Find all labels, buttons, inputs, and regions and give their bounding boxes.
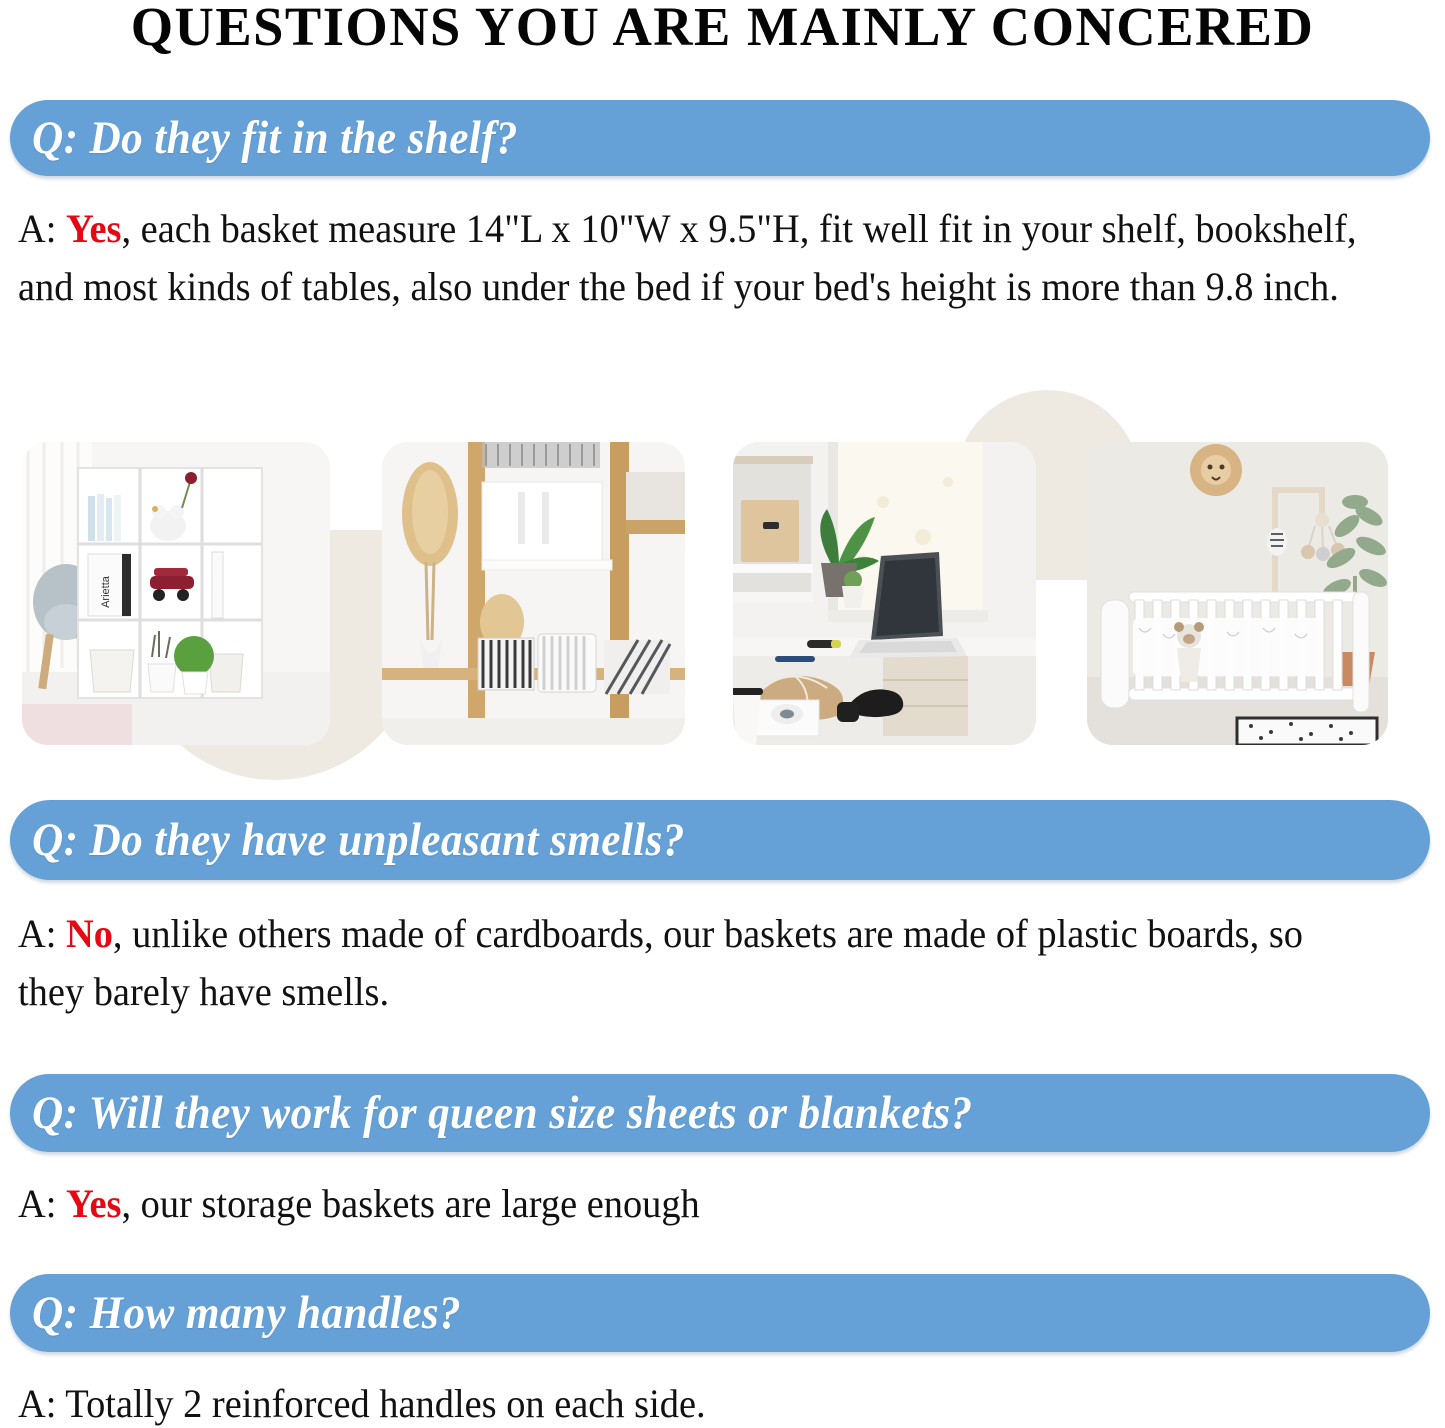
answer-rest-1: , each basket measure 14"L x 10"W x 9.5"… [18,206,1356,309]
answer-rest-4: Totally 2 reinforced handles on each sid… [65,1381,705,1426]
answer-highlight-1: Yes [66,206,121,251]
question-bar-3: Q: Will they work for queen size sheets … [10,1074,1430,1152]
answer-4: A: Totally 2 reinforced handles on each … [18,1375,1374,1428]
nursery-illustration [1087,442,1388,745]
answer-rest-3: , our storage baskets are large enough [121,1181,699,1226]
answer-1: A: Yes, each basket measure 14"L x 10"W … [18,200,1374,316]
answer-3: A: Yes, our storage baskets are large en… [18,1175,1374,1233]
question-text-1: Q: Do they fit in the shelf? [32,113,518,163]
gallery-photo-bamboo-shelf [382,442,685,745]
answer-prefix-2: A: [18,911,66,956]
answer-prefix-4: A: [18,1381,65,1426]
svg-text:Arietta: Arietta [100,575,112,608]
answer-2: A: No, unlike others made of cardboards,… [18,905,1374,1021]
answer-highlight-3: Yes [66,1181,121,1226]
question-text-4: Q: How many handles? [32,1288,461,1338]
page-title: QUESTIONS YOU ARE MAINLY CONCERED [7,0,1438,58]
gallery-photo-home-office [733,442,1036,745]
gallery-photo-nursery [1087,442,1388,745]
answer-rest-2: , unlike others made of cardboards, our … [18,911,1303,1014]
gallery-photo-bookshelf: Arietta [22,442,330,745]
question-bar-2: Q: Do they have unpleasant smells? [10,800,1430,880]
faq-page: QUESTIONS YOU ARE MAINLY CONCERED Q: Do … [0,0,1445,1428]
answer-highlight-2: No [66,911,113,956]
answer-prefix-3: A: [18,1181,66,1226]
bamboo-shelf-illustration [382,442,685,745]
question-text-2: Q: Do they have unpleasant smells? [32,815,685,865]
question-bar-4: Q: How many handles? [10,1274,1430,1352]
bookshelf-illustration: Arietta [22,442,330,745]
question-text-3: Q: Will they work for queen size sheets … [32,1088,972,1138]
answer-prefix-1: A: [18,206,66,251]
question-bar-1: Q: Do they fit in the shelf? [10,100,1430,176]
home-office-illustration [733,442,1036,745]
